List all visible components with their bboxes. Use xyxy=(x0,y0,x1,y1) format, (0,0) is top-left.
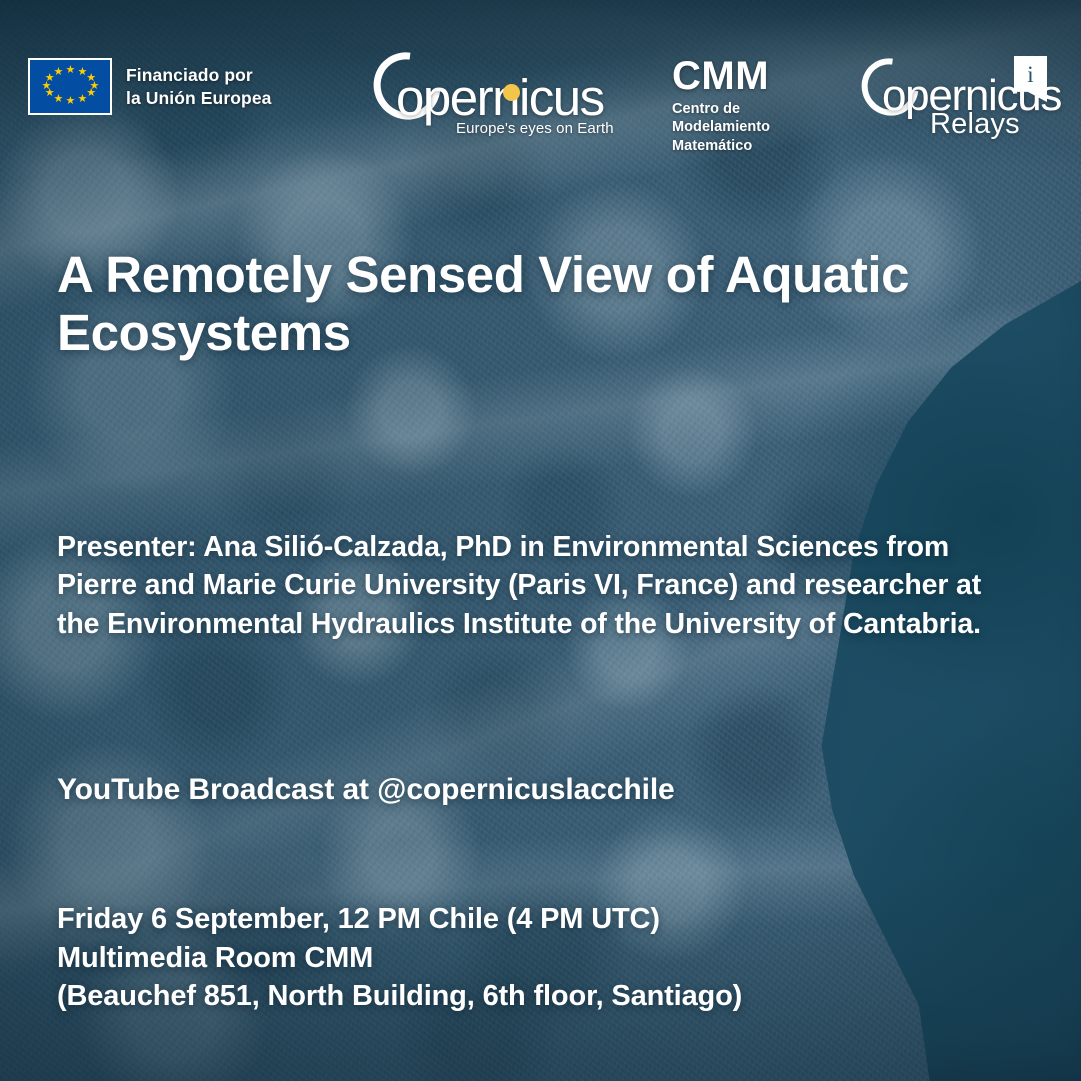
broadcast-info: YouTube Broadcast at @copernicuslacchile xyxy=(57,770,957,809)
eu-funding-label: Financiado por la Unión Europea xyxy=(126,64,272,109)
eu-star-icon: ★ xyxy=(54,68,63,77)
page-title: A Remotely Sensed View of Aquatic Ecosys… xyxy=(57,246,977,362)
cmm-subtitle-line3: Matemático xyxy=(672,137,770,155)
copernicus-wordmark: opernicus xyxy=(396,72,604,123)
copernicus-yellow-dot-icon xyxy=(503,84,520,101)
relays-subtitle: Relays xyxy=(930,110,1020,139)
eu-star-icon: ★ xyxy=(66,66,75,75)
event-venue: Multimedia Room CMM xyxy=(57,939,1017,978)
eu-star-icon: ★ xyxy=(78,95,87,104)
eu-star-icon: ★ xyxy=(54,95,63,104)
relays-info-badge-icon: i xyxy=(1014,56,1047,102)
copernicus-tagline: Europe's eyes on Earth xyxy=(456,120,614,137)
copernicus-logo: opernicus Europe's eyes on Earth xyxy=(372,52,597,144)
logo-row: ★★★★★★★★★★★★ Financiado por la Unión Eur… xyxy=(0,0,1081,168)
eu-funding-line2: la Unión Europea xyxy=(126,87,272,109)
eu-star-icon: ★ xyxy=(66,97,75,106)
eu-funding-logo: ★★★★★★★★★★★★ Financiado por la Unión Eur… xyxy=(28,58,272,115)
eu-flag-icon: ★★★★★★★★★★★★ xyxy=(28,58,112,115)
cmm-subtitle-line2: Modelamiento xyxy=(672,118,770,136)
event-address: (Beauchef 851, North Building, 6th floor… xyxy=(57,977,1017,1016)
relays-badge-letter: i xyxy=(1014,63,1047,86)
presenter-bio: Presenter: Ana Silió-Calzada, PhD in Env… xyxy=(57,528,1012,643)
cmm-acronym: CMM xyxy=(672,56,770,96)
eu-star-icon: ★ xyxy=(78,68,87,77)
eu-star-icon: ★ xyxy=(45,74,54,83)
cmm-subtitle: Centro de Modelamiento Matemático xyxy=(672,100,770,155)
event-datetime: Friday 6 September, 12 PM Chile (4 PM UT… xyxy=(57,900,1017,939)
cmm-logo: CMM Centro de Modelamiento Matemático xyxy=(672,56,770,155)
event-details: Friday 6 September, 12 PM Chile (4 PM UT… xyxy=(57,900,1017,1016)
eu-star-icon: ★ xyxy=(86,89,95,98)
copernicus-relays-logo: opernicus i Relays xyxy=(862,54,1058,142)
eu-funding-line1: Financiado por xyxy=(126,64,272,86)
cmm-subtitle-line1: Centro de xyxy=(672,100,770,118)
event-poster: ★★★★★★★★★★★★ Financiado por la Unión Eur… xyxy=(0,0,1081,1081)
